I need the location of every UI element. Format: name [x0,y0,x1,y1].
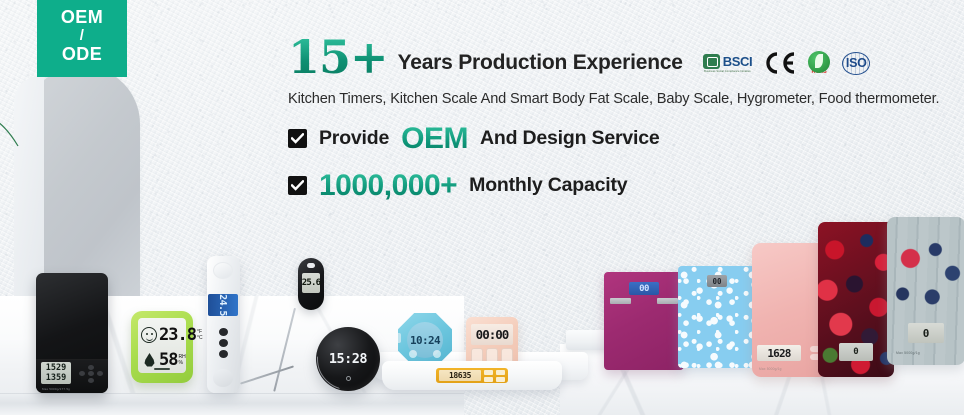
ce-badge [763,51,797,75]
bullet-oem-suffix: And Design Service [480,127,660,150]
black-round-timer: 15:28 [316,327,380,391]
probe-head: 25.6 [298,258,324,310]
bullet-capacity-accent: 1000,000+ [319,171,457,201]
magenta-scale-display: 00 [629,282,659,295]
thermometer-hinge-bottom [213,369,233,387]
wood-scale-brand-text: Max 5000g/1g [896,351,920,355]
berry-scale-display: 0 [839,343,873,361]
oem-ode-badge: OEM / ODE [37,0,127,77]
baby-scale-display: 18635 [439,370,481,381]
white-baby-scale: 18635 [382,361,562,390]
black-scale-display: 1529 1359 [41,362,71,384]
bullet-oem-prefix: Provide [319,127,389,150]
electrode-right [657,298,678,304]
years-number: 15+ [288,36,388,82]
ce-mark-icon [763,51,797,75]
bsci-sublabel: Business Social Compliance Initiative [704,70,751,73]
hygrometer-humidity: 58 [159,350,177,370]
black-scale-lcd-line2: 1359 [46,373,66,383]
probe-display: 25.6 [302,273,320,293]
probe-hang-hole [307,263,315,268]
headline-text: Years Production Experience [398,51,683,82]
comfort-face-icon [141,327,157,343]
oem-badge-slash: / [80,27,85,44]
bsci-mark-icon [703,54,720,69]
iso-label: ISO [846,56,867,70]
electrode-left [610,298,631,304]
certification-badges: BSCI Business Social Compliance Initiati… [703,51,871,82]
water-drop-icon [144,353,155,367]
hygrometer-temperature: 23.8 [159,325,196,345]
baby-scale-keys [496,370,505,382]
temp-unit-bottom: °C [197,335,203,341]
black-scale-keypad [79,365,103,385]
bullet-oem: Provide OEM And Design Service [288,124,960,154]
black-scale-brand-text: Max 5000g/177.5g [42,387,70,391]
timer-power-button [346,376,351,381]
product-list-subtitle: Kitchen Timers, Kitchen Scale And Smart … [288,91,960,107]
temperature-row: 23.8 °F °C [141,321,183,348]
round-timer-display: 15:28 [316,327,380,391]
blue-timer-buttons [409,350,441,358]
iso-badge: ISO [841,51,871,76]
headline-row: 15+ Years Production Experience BSCI Bus… [288,36,960,82]
pink-timer-display: 00:00 [471,324,513,345]
arch-edge [14,76,44,304]
blue-scale-display: 00 [707,275,727,287]
black-scale-lcd-line1: 1529 [46,363,66,373]
promo-banner: OEM / ODE 15+ Years Production Experienc… [0,0,964,415]
folding-thermometer-display: 24.5 [208,294,238,316]
banner-copy: 15+ Years Production Experience BSCI Bus… [288,36,960,201]
checkmark-icon [288,129,307,148]
baby-scale-panel: 18635 [436,368,508,383]
white-folding-thermometer: 24.5 [207,256,240,393]
magenta-body-fat-scale: 00 [604,272,684,370]
hum-unit-bottom: % [178,360,182,366]
pink-scale-display: 1628 [757,345,801,361]
berry-print-kitchen-scale: 0 [818,222,894,377]
oem-badge-line2: ODE [62,45,102,64]
green-hygrometer: 23.8 °F °C 58 RH % [131,311,193,383]
oem-badge-line1: OEM [61,8,103,27]
bullet-capacity-suffix: Monthly Capacity [469,174,627,197]
bullet-capacity: 1000,000+ Monthly Capacity [288,171,960,201]
thermometer-hinge-top [213,262,233,279]
pink-kitchen-scale: 1628 Max 5000g/1g [752,243,828,377]
black-kitchen-scale: 1529 1359 Max 5000g/177.5g [36,273,108,393]
blue-octagon-timer: 10:24 [398,313,452,367]
checkmark-icon [288,176,307,195]
bsci-badge: BSCI Business Social Compliance Initiati… [703,54,752,73]
hygrometer-screen: 23.8 °F °C 58 RH % [138,318,186,373]
rohs-badge: RoHS [808,51,830,75]
bullet-oem-accent: OEM [401,124,468,154]
baby-scale-keys [484,370,493,382]
wood-print-kitchen-scale: 0 Max 5000g/1g [887,217,964,365]
wood-scale-display: 0 [908,323,944,343]
thermometer-buttons [219,328,228,360]
bsci-label: BSCI [723,54,752,69]
counter-edge [0,393,464,415]
decor-thread [0,120,22,148]
hygrometer-base-bar [154,368,169,370]
pink-scale-brand-text: Max 5000g/1g [759,367,782,371]
blue-polkadot-body-scale: 00 [678,266,756,368]
